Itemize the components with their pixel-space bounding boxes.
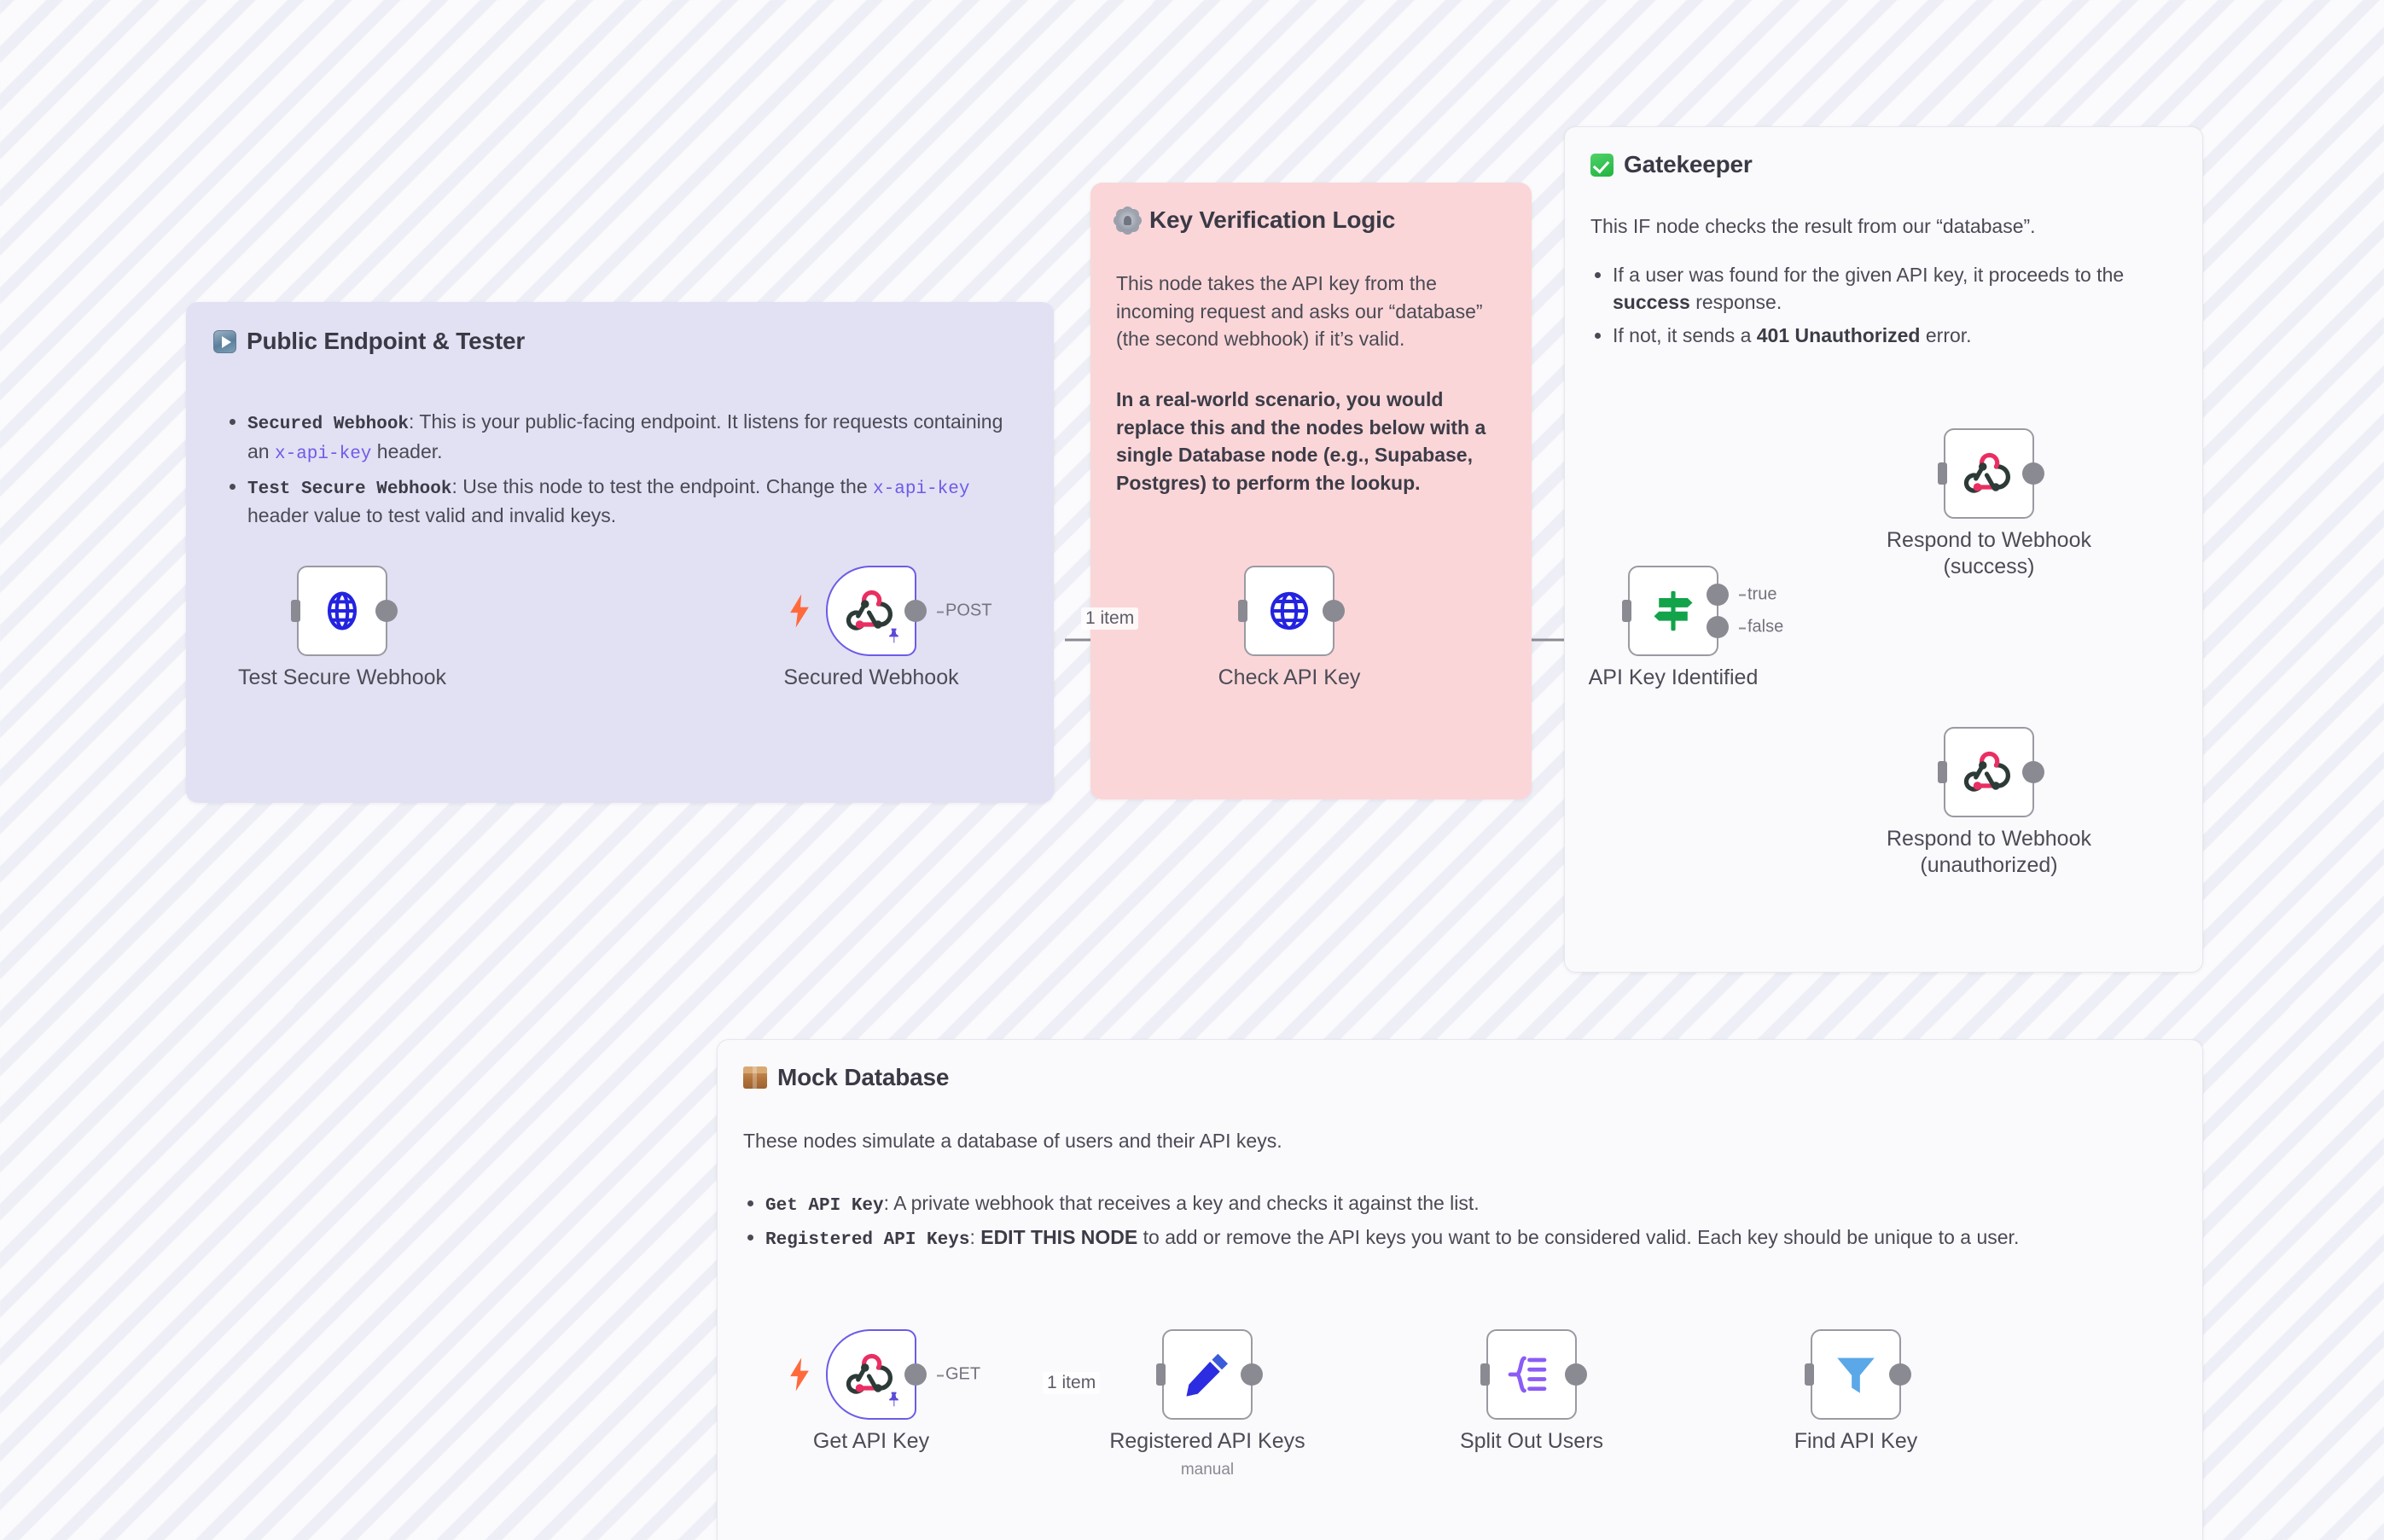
webhook-icon	[1963, 747, 2015, 798]
node-respond-to-webhook-unauthorized[interactable]: Respond to Webhook (unauthorized)	[1944, 727, 2034, 817]
webhook-icon	[1963, 448, 2015, 499]
node-label: Respond to Webhook (unauthorized)	[1861, 826, 2117, 878]
output-port-false[interactable]	[1707, 616, 1729, 638]
sticky-note-key-verification[interactable]: Key Verification Logic This node takes t…	[1090, 183, 1532, 799]
panel-title-public-endpoint: Public Endpoint & Tester	[213, 328, 1054, 355]
workflow-canvas[interactable]: Public Endpoint & Tester Secured Webhook…	[0, 0, 2384, 1540]
panel-title-mock-database: Mock Database	[743, 1064, 2202, 1091]
list-item: Secured Webhook: This is your public-fac…	[247, 408, 1015, 468]
node-registered-api-keys[interactable]: Registered API Keys manual	[1162, 1329, 1253, 1420]
if-signpost-icon	[1647, 584, 1700, 637]
output-port[interactable]	[1323, 600, 1345, 622]
output-port-label-true: true	[1747, 584, 1776, 604]
sticky-note-public-endpoint[interactable]: Public Endpoint & Tester Secured Webhook…	[186, 302, 1054, 803]
input-port[interactable]	[1238, 600, 1247, 622]
node-label: Test Secure Webhook	[214, 665, 470, 691]
node-split-out-users[interactable]: Split Out Users	[1486, 1329, 1577, 1420]
output-port[interactable]	[375, 600, 398, 622]
node-check-api-key[interactable]: Check API Key	[1244, 566, 1334, 656]
input-port[interactable]	[1938, 761, 1947, 783]
panel-body-public-endpoint: Secured Webhook: This is your public-fac…	[225, 408, 1015, 530]
node-get-api-key[interactable]: GET Get API Key	[826, 1329, 916, 1420]
output-port-label: GET	[945, 1365, 980, 1385]
input-port[interactable]	[1938, 462, 1947, 485]
lightning-bolt-icon	[788, 1357, 811, 1392]
gear-icon	[1116, 209, 1139, 232]
paragraph: These nodes simulate a database of users…	[743, 1127, 2172, 1155]
input-port[interactable]	[1805, 1363, 1814, 1386]
input-port[interactable]	[1622, 600, 1631, 622]
node-label: Find API Key	[1728, 1428, 1984, 1455]
node-secured-webhook[interactable]: POST Secured Webhook	[826, 566, 916, 656]
panel-title-text: Mock Database	[777, 1064, 949, 1091]
edit-pencil-icon	[1181, 1348, 1234, 1401]
node-label: Split Out Users	[1404, 1428, 1660, 1455]
input-port[interactable]	[1156, 1363, 1166, 1386]
filter-funnel-icon	[1831, 1350, 1881, 1399]
list-item: Test Secure Webhook: Use this node to te…	[247, 473, 1015, 530]
panel-title-text: Key Verification Logic	[1149, 206, 1395, 234]
input-port[interactable]	[291, 600, 300, 622]
list-item: If a user was found for the given API ke…	[1613, 261, 2172, 317]
pin-icon[interactable]	[886, 1389, 903, 1409]
paragraph-bold: In a real-world scenario, you would repl…	[1116, 386, 1501, 497]
panel-body-key-verification: This node takes the API key from the inc…	[1116, 270, 1501, 497]
list-item: Get API Key: A private webhook that rece…	[765, 1189, 2172, 1219]
output-port[interactable]	[1241, 1363, 1263, 1386]
node-label: Check API Key	[1161, 665, 1417, 691]
panel-title-text: Public Endpoint & Tester	[247, 328, 525, 355]
node-find-api-key[interactable]: Find API Key	[1811, 1329, 1901, 1420]
edge-label-items: 1 item	[1081, 607, 1138, 630]
output-port[interactable]	[1889, 1363, 1911, 1386]
lightning-bolt-icon	[788, 594, 811, 628]
output-port-true[interactable]	[1707, 584, 1729, 606]
split-out-icon	[1506, 1349, 1557, 1400]
node-label: Secured Webhook	[743, 665, 999, 691]
node-label: Get API Key	[743, 1428, 999, 1455]
edge-label-items: 1 item	[1043, 1372, 1100, 1394]
list-item: Registered API Keys: EDIT THIS NODE to a…	[765, 1223, 2172, 1253]
node-respond-to-webhook-success[interactable]: Respond to Webhook (success)	[1944, 428, 2034, 519]
node-test-secure-webhook[interactable]: Test Secure Webhook	[297, 566, 387, 656]
check-mark-button-icon	[1590, 154, 1614, 177]
panel-body-mock-database: These nodes simulate a database of users…	[743, 1127, 2172, 1253]
panel-title-text: Gatekeeper	[1624, 151, 1753, 178]
package-icon	[743, 1066, 767, 1089]
input-port[interactable]	[1480, 1363, 1490, 1386]
panel-title-gatekeeper: Gatekeeper	[1590, 151, 2202, 178]
node-subtitle: manual	[1079, 1461, 1335, 1479]
node-label: Respond to Webhook (success)	[1861, 527, 2117, 579]
node-label: Registered API Keys	[1079, 1428, 1335, 1455]
play-button-icon	[213, 330, 236, 353]
node-api-key-identified[interactable]: true false API Key Identified	[1628, 566, 1718, 656]
output-port-label: POST	[945, 601, 991, 621]
panel-body-gatekeeper: This IF node checks the result from our …	[1590, 212, 2172, 350]
globe-icon	[1265, 586, 1314, 636]
paragraph: This node takes the API key from the inc…	[1116, 270, 1501, 353]
sticky-note-mock-database[interactable]: Mock Database These nodes simulate a dat…	[717, 1039, 2203, 1540]
node-label: API Key Identified	[1545, 665, 1801, 691]
globe-icon	[317, 586, 367, 636]
output-port[interactable]	[1565, 1363, 1587, 1386]
pin-icon[interactable]	[886, 625, 903, 646]
output-port[interactable]	[2022, 761, 2044, 783]
output-port[interactable]	[904, 1363, 927, 1386]
paragraph: This IF node checks the result from our …	[1590, 212, 2172, 241]
list-item: If not, it sends a 401 Unauthorized erro…	[1613, 322, 2172, 350]
output-port-label-false: false	[1747, 618, 1783, 637]
panel-title-key-verification: Key Verification Logic	[1116, 206, 1532, 234]
output-port[interactable]	[2022, 462, 2044, 485]
output-port[interactable]	[904, 600, 927, 622]
